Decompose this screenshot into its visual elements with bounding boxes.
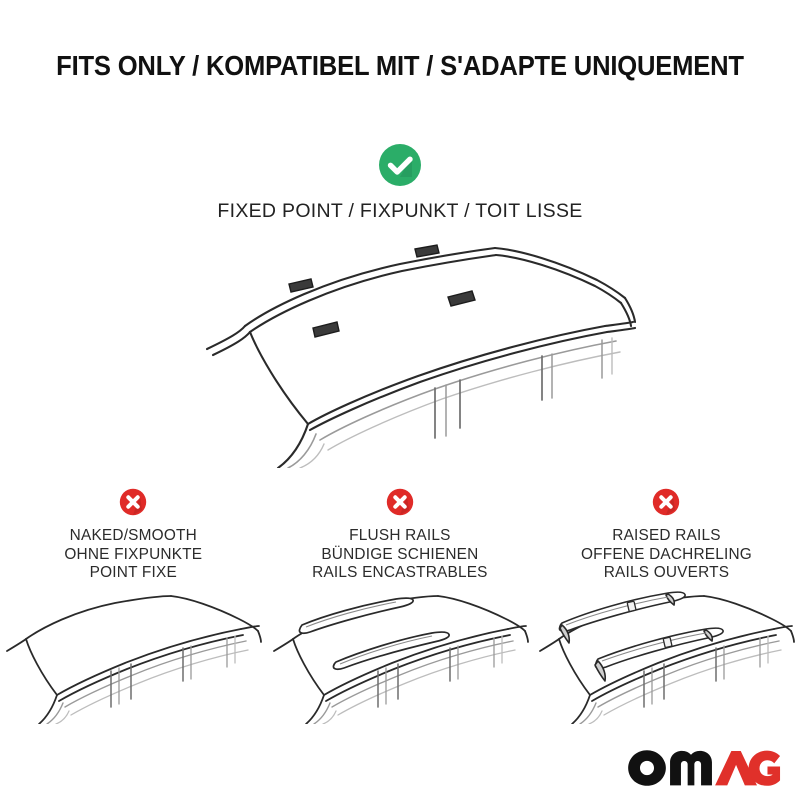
car-roof-naked-illustration xyxy=(3,589,263,724)
fixed-point-marker xyxy=(289,245,475,337)
x-circle-icon xyxy=(652,488,680,516)
option-flush-rails: FLUSH RAILS BÜNDIGE SCHIENEN RAILS ENCAS… xyxy=(267,488,534,724)
page-title: FITS ONLY / KOMPATIBEL MIT / S'ADAPTE UN… xyxy=(28,50,772,82)
check-circle-icon xyxy=(378,143,422,187)
option-naked-smooth-labels: NAKED/SMOOTH OHNE FIXPUNKTE POINT FIXE xyxy=(0,527,267,583)
x-circle-icon xyxy=(386,488,414,516)
option-label-line-3: POINT FIXE xyxy=(0,564,267,583)
option-naked-smooth: NAKED/SMOOTH OHNE FIXPUNKTE POINT FIXE xyxy=(0,488,267,724)
option-flush-rails-labels: FLUSH RAILS BÜNDIGE SCHIENEN RAILS ENCAS… xyxy=(267,527,534,583)
car-roof-fixed-point-illustration xyxy=(150,228,670,468)
flush-rail xyxy=(299,598,449,669)
option-label-line-3: RAILS OUVERTS xyxy=(533,564,800,583)
raised-rail xyxy=(560,592,724,681)
option-raised-rails-labels: RAISED RAILS OFFENE DACHRELING RAILS OUV… xyxy=(533,527,800,583)
option-label-line-1: NAKED/SMOOTH xyxy=(0,527,267,546)
omac-logo xyxy=(625,746,782,790)
x-circle-icon xyxy=(119,488,147,516)
option-label-line-2: BÜNDIGE SCHIENEN xyxy=(267,546,534,565)
logo-letter-o xyxy=(628,750,666,786)
logo-letter-m xyxy=(670,751,712,786)
car-roof-raised-rails-illustration xyxy=(536,589,796,724)
option-label-line-1: RAISED RAILS xyxy=(533,527,800,546)
car-roof-flush-rails-illustration xyxy=(270,589,530,724)
option-label-line-2: OFFENE DACHRELING xyxy=(533,546,800,565)
option-label-line-3: RAILS ENCASTRABLES xyxy=(267,564,534,583)
option-label-line-2: OHNE FIXPUNKTE xyxy=(0,546,267,565)
incompatible-options-row: NAKED/SMOOTH OHNE FIXPUNKTE POINT FIXE xyxy=(0,488,800,724)
header: FITS ONLY / KOMPATIBEL MIT / S'ADAPTE UN… xyxy=(0,50,800,82)
compatible-section: FIXED POINT / FIXPUNKT / TOIT LISSE xyxy=(0,143,800,223)
option-label-line-1: FLUSH RAILS xyxy=(267,527,534,546)
compatible-label: FIXED POINT / FIXPUNKT / TOIT LISSE xyxy=(0,200,800,223)
option-raised-rails: RAISED RAILS OFFENE DACHRELING RAILS OUV… xyxy=(533,488,800,724)
